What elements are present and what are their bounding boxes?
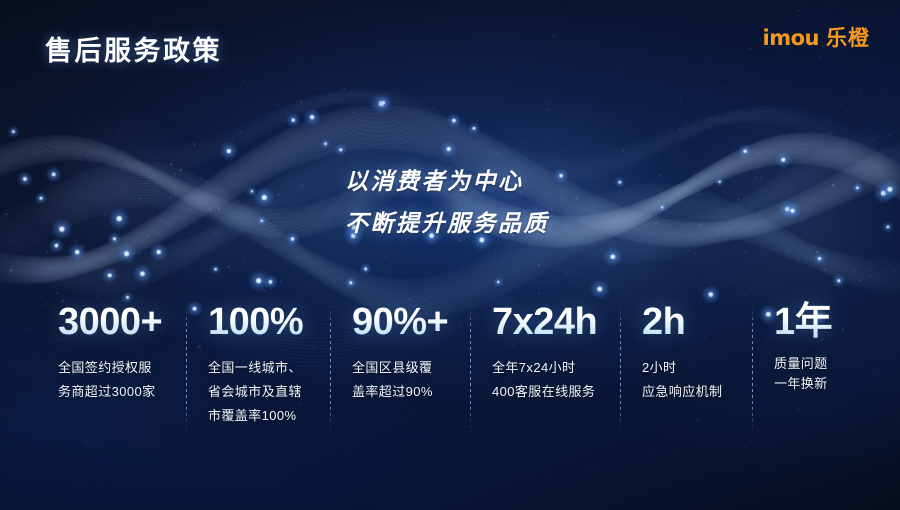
stat-description-line: 全年7x24小时 [492,356,612,380]
stat-value: 3000+ [58,300,178,344]
stat-value: 7x24h [492,300,612,344]
stat-description-line: 质量问题 [774,354,884,374]
slide-root: 售后服务政策 imou 乐橙 以消费者为中心 不断提升服务品质 3000+全国签… [0,0,900,510]
stat-item: 90%+全国区县级覆盖率超过90% [330,300,470,450]
header: 售后服务政策 imou 乐橙 [0,0,900,88]
page-title: 售后服务政策 [45,29,222,68]
stat-description: 质量问题一年换新 [774,354,884,394]
stat-description-line: 2小时 [642,356,744,380]
stat-divider [186,305,187,433]
stat-divider [470,305,471,433]
stat-description-line: 全国签约授权服 [58,356,178,380]
stat-divider [620,305,621,433]
stat-description-line: 全国区县级覆 [352,356,462,380]
brand-chinese-name: 乐橙 [826,28,870,49]
stat-description-line: 全国一线城市、 [208,356,322,380]
stat-description: 全国一线城市、省会城市及直辖市覆盖率100% [208,356,322,428]
stat-item: 7x24h全年7x24小时400客服在线服务 [470,300,620,450]
stat-description-line: 一年换新 [774,374,884,394]
imou-wordmark-icon: imou [763,28,819,49]
stat-description-line: 务商超过3000家 [58,380,178,404]
slogan-line-1: 以消费者为中心 [345,160,549,202]
stat-description: 全国区县级覆盖率超过90% [352,356,462,404]
stat-item: 2h2小时应急响应机制 [620,300,752,450]
stat-item: 3000+全国签约授权服务商超过3000家 [36,300,186,450]
stat-item: 1年质量问题一年换新 [752,300,892,450]
stats-row: 3000+全国签约授权服务商超过3000家100%全国一线城市、省会城市及直辖市… [0,300,900,450]
brand-logo: imou 乐橙 [763,28,870,49]
slogan-line-2: 不断提升服务品质 [345,202,549,244]
stat-description-line: 400客服在线服务 [492,380,612,404]
stat-divider [330,305,331,433]
stat-description-line: 省会城市及直辖 [208,380,322,404]
stat-description-line: 应急响应机制 [642,380,744,404]
slogan: 以消费者为中心 不断提升服务品质 [345,160,549,244]
stat-value: 2h [642,300,744,344]
stat-value: 90%+ [352,300,462,344]
stat-item: 100%全国一线城市、省会城市及直辖市覆盖率100% [186,300,330,450]
stat-description: 全年7x24小时400客服在线服务 [492,356,612,404]
stat-description: 全国签约授权服务商超过3000家 [58,356,178,404]
stat-description: 2小时应急响应机制 [642,356,744,404]
stat-value: 100% [208,300,322,344]
stat-description-line: 盖率超过90% [352,380,462,404]
stat-divider [752,305,753,433]
stat-value: 1年 [774,300,884,344]
stat-description-line: 市覆盖率100% [208,404,322,428]
